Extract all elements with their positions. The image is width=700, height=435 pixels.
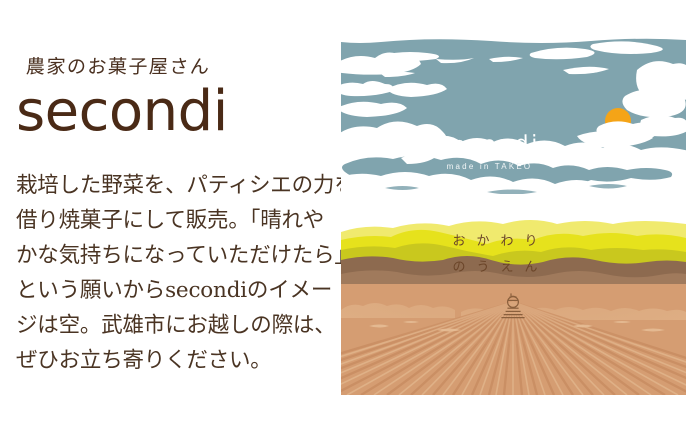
body-line: 借り焼菓子にして販売。「晴れや: [16, 203, 342, 238]
promo-card: 農家のお菓子屋さん secondi 栽培した野菜を、パティシエの力を 借り焼菓子…: [0, 0, 700, 435]
body-line: ジは空。武雄市にお越しの際は、: [16, 308, 342, 343]
text-column: 農家のお菓子屋さん secondi 栽培した野菜を、パティシエの力を 借り焼菓子…: [0, 0, 341, 435]
kicker-text: 農家のお菓子屋さん: [25, 52, 211, 79]
landscape-illustration: [341, 34, 686, 395]
body-line: ぜひお立ち寄りください。: [16, 343, 342, 378]
body-copy: 栽培した野菜を、パティシエの力を 借り焼菓子にして販売。「晴れや かな気持ちにな…: [16, 168, 342, 378]
body-line: 栽培した野菜を、パティシエの力を: [16, 168, 342, 203]
body-line: かな気持ちになっていただけたら」: [16, 238, 342, 273]
illustration-panel: secondi made in TAKEO おかわり のうえん: [341, 34, 686, 395]
brand-wordmark: secondi: [16, 84, 228, 140]
body-line: という願いからsecondiのイメー: [16, 273, 342, 308]
